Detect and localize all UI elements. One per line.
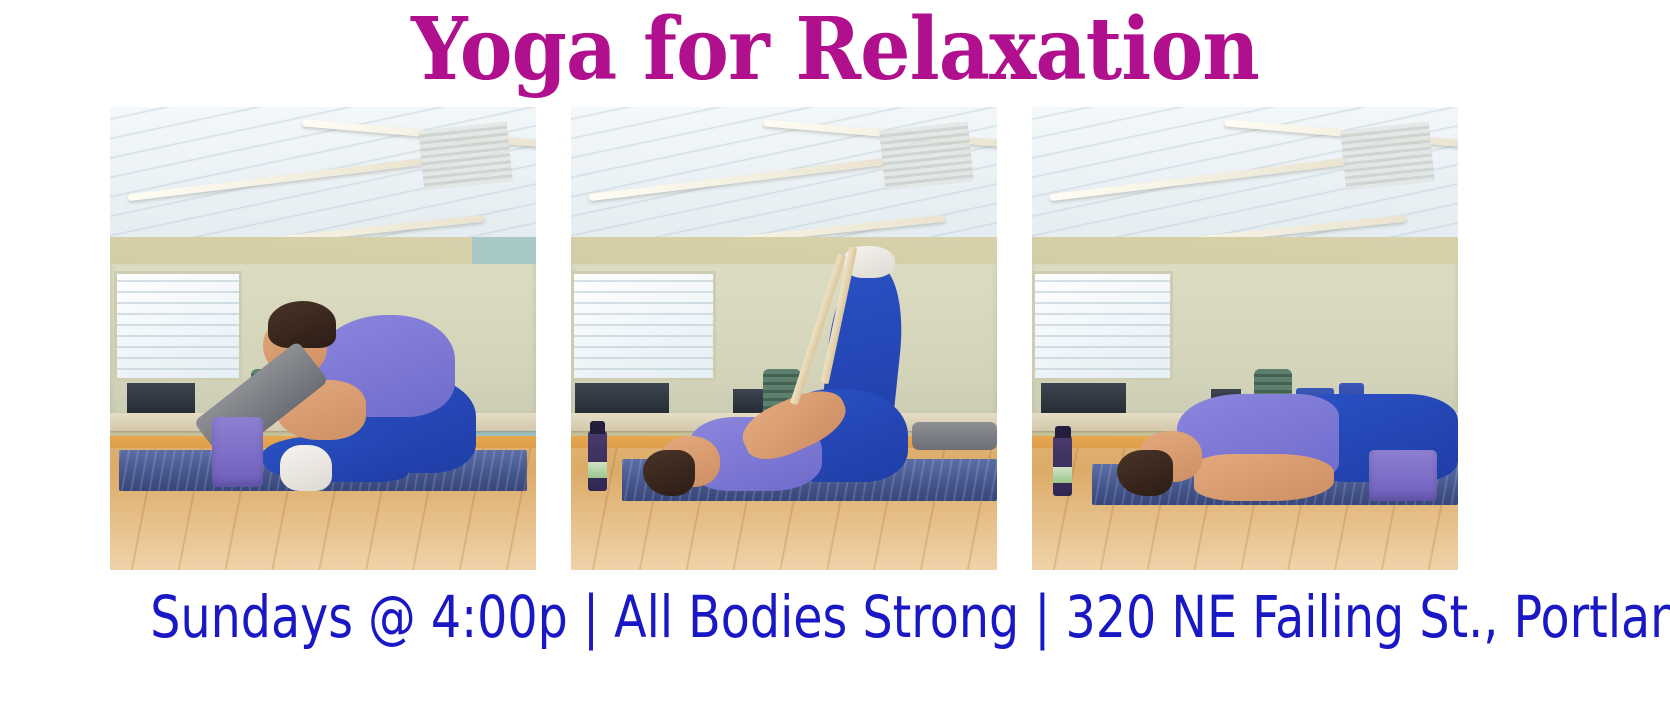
equipment-bin <box>733 389 763 412</box>
water-bottle <box>1053 436 1072 496</box>
foam-block-prop <box>1369 450 1437 501</box>
equipment-shelf <box>1041 383 1126 413</box>
photo-strip: Seated forward fold resting on a bolster… <box>110 107 1558 570</box>
figure-arm <box>1194 454 1335 500</box>
page-title: Yoga for Relaxation <box>67 2 1603 98</box>
studio-scene-2 <box>571 107 997 570</box>
figure-hair <box>643 450 694 496</box>
figure-hair <box>268 301 336 347</box>
ceiling-vent <box>879 121 974 190</box>
photo-supine-strap-stretch: Reclined hand-to-big-toe stretch using a… <box>571 107 997 570</box>
ceiling-vent <box>1340 121 1435 190</box>
window-frame <box>1032 271 1173 381</box>
ceiling-vent <box>418 121 513 190</box>
figure-hair <box>1117 450 1172 496</box>
flyer-canvas: Yoga for Relaxation <box>0 0 1670 707</box>
equipment-shelf <box>575 383 669 413</box>
studio-scene-1 <box>110 107 536 570</box>
window-frame <box>571 271 716 381</box>
figure-sock <box>280 445 331 491</box>
water-bottle <box>588 431 607 491</box>
window-frame <box>114 271 242 381</box>
photo-savasana: Savasana, final resting pose with a bloc… <box>1032 107 1458 570</box>
equipment-shelf <box>127 383 195 413</box>
bolster-prop <box>912 422 997 450</box>
photo-supported-forward-fold: Seated forward fold resting on a bolster… <box>110 107 536 570</box>
foam-block-prop <box>212 417 263 486</box>
studio-scene-3 <box>1032 107 1458 570</box>
event-details: Sundays @ 4:00p | All Bodies Strong | 32… <box>150 582 1519 652</box>
